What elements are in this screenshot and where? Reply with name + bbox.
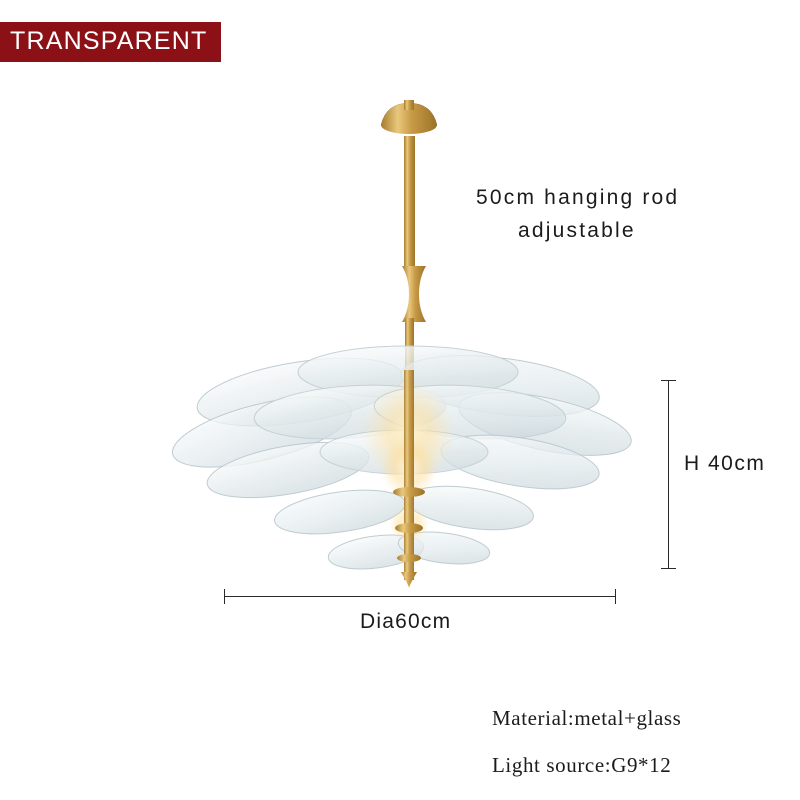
rod-joint — [402, 266, 426, 322]
height-tick-top — [661, 380, 676, 381]
diameter-label: Dia60cm — [360, 610, 451, 634]
diameter-tick-left — [224, 589, 225, 604]
hub-ring-1 — [393, 487, 425, 497]
material-label: Material:metal+glass — [492, 706, 681, 731]
center-column — [404, 370, 414, 580]
height-dimension-line — [668, 380, 669, 568]
transparent-badge: TRANSPARENT — [0, 22, 221, 62]
hanging-rod-note-line2: adjustable — [518, 219, 636, 243]
hub-ring-3 — [397, 554, 421, 562]
chandelier-illustration — [0, 0, 800, 800]
diameter-dimension-line — [224, 596, 616, 597]
hanging-rod — [404, 136, 415, 266]
hanging-rod-note-line1: 50cm hanging rod — [476, 186, 679, 210]
light-source-label: Light source:G9*12 — [492, 753, 671, 778]
bottom-finial — [401, 572, 417, 588]
height-label: H 40cm — [684, 452, 765, 476]
diameter-tick-right — [615, 589, 616, 604]
height-tick-bottom — [661, 568, 676, 569]
ceiling-canopy — [381, 100, 437, 134]
hub-ring-2 — [395, 523, 423, 533]
